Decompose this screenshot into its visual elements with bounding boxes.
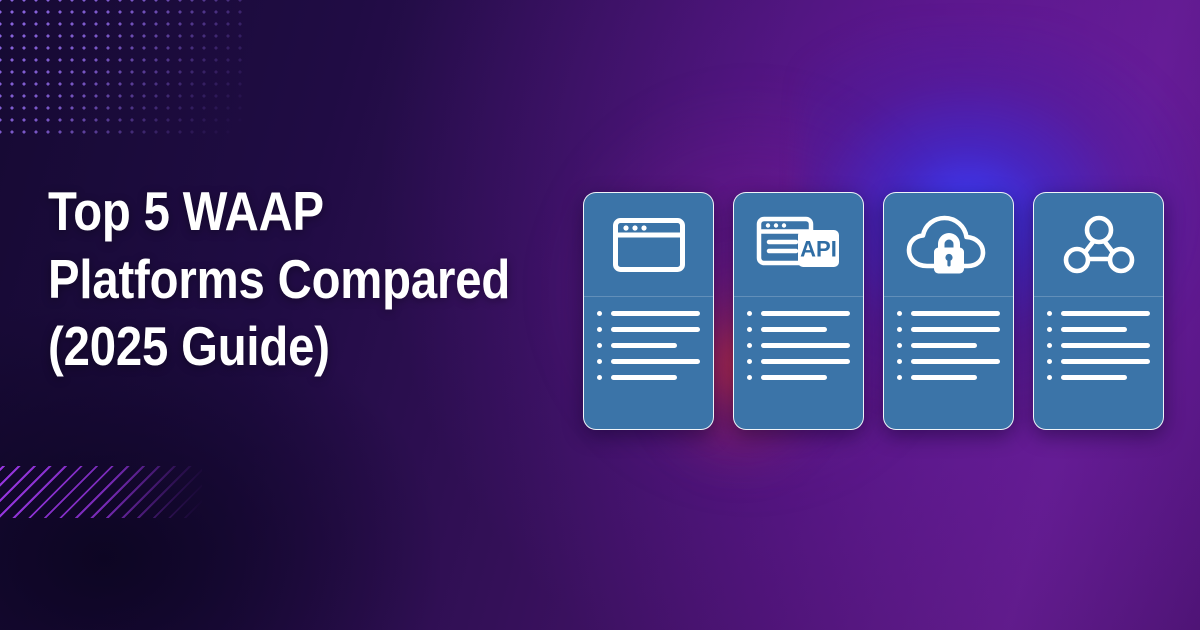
list-item-bar <box>761 359 850 364</box>
bullet-icon <box>1047 359 1052 364</box>
api-window-icon: API <box>756 216 842 274</box>
list-item-bar <box>611 311 700 316</box>
list-item <box>747 311 850 316</box>
list-item <box>897 343 1000 348</box>
list-item-bar <box>611 359 700 364</box>
list-item-bar <box>1061 359 1150 364</box>
bullet-icon <box>1047 327 1052 332</box>
list-item-bar <box>761 311 850 316</box>
card-icon-area <box>1034 193 1163 297</box>
bullet-icon <box>597 375 602 380</box>
list-item <box>747 375 850 380</box>
bullet-icon <box>597 311 602 316</box>
list-item <box>597 327 700 332</box>
cloud-lock-icon <box>905 214 993 276</box>
bullet-icon <box>897 359 902 364</box>
list-item-bar <box>911 327 1000 332</box>
list-item-bar <box>911 343 977 348</box>
bullet-icon <box>747 343 752 348</box>
platform-card-group: API <box>583 192 1164 430</box>
card-icon-area: API <box>734 193 863 297</box>
browser-window-icon <box>613 218 685 272</box>
card-feature-list <box>884 297 1013 429</box>
list-item <box>747 327 850 332</box>
list-item-bar <box>761 343 850 348</box>
list-item <box>1047 311 1150 316</box>
bullet-icon <box>597 359 602 364</box>
list-item-bar <box>611 327 700 332</box>
bullet-icon <box>747 311 752 316</box>
bullet-icon <box>747 359 752 364</box>
bullet-icon <box>1047 375 1052 380</box>
list-item-bar <box>911 375 977 380</box>
card-api: API <box>733 192 864 430</box>
list-item-bar <box>1061 343 1150 348</box>
page-title: Top 5 WAAP Platforms Compared (2025 Guid… <box>48 178 512 381</box>
list-item <box>747 343 850 348</box>
bullet-icon <box>1047 311 1052 316</box>
bullet-icon <box>897 327 902 332</box>
card-feature-list <box>734 297 863 429</box>
list-item-bar <box>911 311 1000 316</box>
bullet-icon <box>1047 343 1052 348</box>
list-item-bar <box>761 327 827 332</box>
list-item-bar <box>1061 375 1127 380</box>
banner-canvas: Top 5 WAAP Platforms Compared (2025 Guid… <box>0 0 1200 630</box>
list-item <box>1047 375 1150 380</box>
list-item <box>1047 343 1150 348</box>
bullet-icon <box>897 375 902 380</box>
bullet-icon <box>897 343 902 348</box>
api-label: API <box>800 236 837 261</box>
list-item-bar <box>1061 327 1127 332</box>
list-item <box>897 311 1000 316</box>
bullet-icon <box>747 327 752 332</box>
list-item <box>1047 327 1150 332</box>
card-feature-list <box>1034 297 1163 429</box>
list-item-bar <box>611 375 677 380</box>
list-item <box>747 359 850 364</box>
card-web-app <box>583 192 714 430</box>
card-network <box>1033 192 1164 430</box>
bullet-icon <box>597 327 602 332</box>
dot-grid-pattern <box>0 0 250 142</box>
bullet-icon <box>597 343 602 348</box>
list-item <box>597 375 700 380</box>
list-item-bar <box>1061 311 1150 316</box>
list-item <box>897 375 1000 380</box>
list-item <box>1047 359 1150 364</box>
card-feature-list <box>584 297 713 429</box>
list-item <box>897 327 1000 332</box>
card-icon-area <box>884 193 1013 297</box>
card-cloud-security <box>883 192 1014 430</box>
card-icon-area <box>584 193 713 297</box>
list-item <box>597 311 700 316</box>
list-item <box>897 359 1000 364</box>
bullet-icon <box>747 375 752 380</box>
list-item <box>597 343 700 348</box>
list-item-bar <box>911 359 1000 364</box>
list-item-bar <box>761 375 827 380</box>
network-nodes-icon <box>1062 214 1136 276</box>
list-item-bar <box>611 343 677 348</box>
list-item <box>597 359 700 364</box>
bullet-icon <box>897 311 902 316</box>
diagonal-stripes-pattern <box>0 466 202 518</box>
